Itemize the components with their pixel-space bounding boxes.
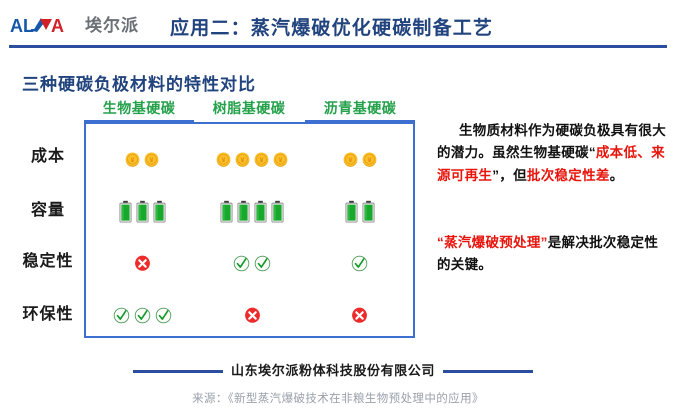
slide-header: AL A 埃尔派 应用二：蒸汽爆破优化硬碳制备工艺 [0,0,676,48]
row-label-cost: 成本 [14,142,82,166]
svg-text:¥: ¥ [348,156,352,163]
note-1-text: 生物质材料作为硬碳负极具有很大的潜力。虽然生物基硬碳“成本低、来源可再生”，但批… [437,120,670,187]
coin-icon: ¥ [343,152,358,167]
check-icon [233,255,250,272]
row-label-eco: 环保性 [14,300,82,324]
battery-icon [136,200,149,223]
battery-icon [271,200,284,223]
coin-icon: ¥ [235,152,250,167]
battery-icon [254,200,267,223]
table-column-headers: 生物基硬碳 树脂基硬碳 沥青基硬碳 [84,98,415,120]
cell-eco-resin [197,292,307,338]
comparison-table-cells: ¥ ¥ ¥ ¥ ¥ ¥ ¥ ¥ [84,122,415,338]
note-2-quote-open: “ [437,235,444,250]
note-1-part2: 但 [513,168,527,183]
note-2-text: “蒸汽爆破预处理”是解决批次稳定性的关键。 [437,232,670,277]
svg-text:¥: ¥ [150,156,154,163]
note-2-quote-close: ” [541,235,548,250]
header-divider [9,45,667,48]
svg-text:AL: AL [10,16,34,36]
battery-icon [220,200,233,223]
cell-stability-pitch [307,240,412,286]
note-2-highlight-1: 蒸汽爆破预处理 [444,235,541,250]
cell-cost-biomass: ¥ ¥ [87,136,197,182]
cell-eco-pitch [307,292,412,338]
coin-icon: ¥ [254,152,269,167]
svg-text:¥: ¥ [131,156,135,163]
cross-icon [134,255,151,272]
note-1-period: 。 [610,168,624,183]
note-2-part1: 是解决批次 [548,235,617,250]
cross-icon [351,307,368,324]
battery-icon [362,200,375,223]
battery-icon [345,200,358,223]
note-1-quote-open: “ [589,145,596,160]
coin-icon: ¥ [144,152,159,167]
slide-title: 应用二：蒸汽爆破优化硬碳制备工艺 [170,13,493,40]
cell-capacity-biomass [87,188,197,234]
check-icon [113,307,130,324]
cell-eco-biomass [87,292,197,338]
check-icon [155,307,172,324]
slide-root: AL A 埃尔派 应用二：蒸汽爆破优化硬碳制备工艺 三种硬碳负极材料的特性对比 … [0,0,676,415]
svg-text:¥: ¥ [260,156,264,163]
svg-text:¥: ¥ [279,156,283,163]
cell-capacity-pitch [307,188,412,234]
column-header-resin-label: 树脂基硬碳 [213,100,286,116]
svg-text:¥: ¥ [222,156,226,163]
footer-rule-left [133,370,223,373]
coin-icon: ¥ [273,152,288,167]
coin-icon: ¥ [125,152,140,167]
brand-logo: AL A 埃尔派 [10,15,139,37]
source-caption: 来源：《新型蒸汽爆破技术在非粮生物预处理中的应用》 [0,390,676,406]
brand-logo-text: 埃尔派 [85,15,139,37]
check-icon [254,255,271,272]
column-header-pitch-label: 沥青基硬碳 [324,100,397,116]
row-label-capacity: 容量 [14,196,82,220]
footer-rule-right [443,370,533,373]
row-label-stability: 稳定性 [14,247,82,271]
cross-icon [244,307,261,324]
column-header-biomass-label: 生物基硬碳 [103,100,176,116]
cell-stability-resin [197,240,307,286]
cell-cost-pitch: ¥ ¥ [307,136,412,182]
section-title: 三种硬碳负极材料的特性对比 [22,70,256,95]
coin-icon: ¥ [216,152,231,167]
svg-text:¥: ¥ [241,156,245,163]
footer-company-name: 山东埃尔派粉体科技股份有限公司 [228,360,438,379]
check-icon [134,307,151,324]
check-icon [351,255,368,272]
column-header-pitch: 沥青基硬碳 [305,98,415,122]
note-paragraph-1: 生物质材料作为硬碳负极具有很大的潜力。虽然生物基硬碳“成本低、来源可再生”，但批… [437,120,670,187]
battery-icon [153,200,166,223]
battery-icon [119,200,132,223]
note-1-highlight-2: 批次稳定性差 [527,168,610,183]
note-1-comma: ， [499,168,513,183]
cell-capacity-resin [197,188,307,234]
battery-icon [237,200,250,223]
alpa-logo-icon: AL A [10,15,78,37]
slide-footer: 山东埃尔派粉体科技股份有限公司 [0,360,676,382]
column-header-biomass: 生物基硬碳 [84,98,194,122]
svg-text:¥: ¥ [367,156,371,163]
note-paragraph-2: “蒸汽爆破预处理”是解决批次稳定性的关键。 [437,232,670,277]
cell-stability-biomass [87,240,197,286]
cell-cost-resin: ¥ ¥ ¥ ¥ [197,136,307,182]
column-header-resin: 树脂基硬碳 [194,98,304,122]
svg-text:A: A [51,16,64,36]
coin-icon: ¥ [362,152,377,167]
